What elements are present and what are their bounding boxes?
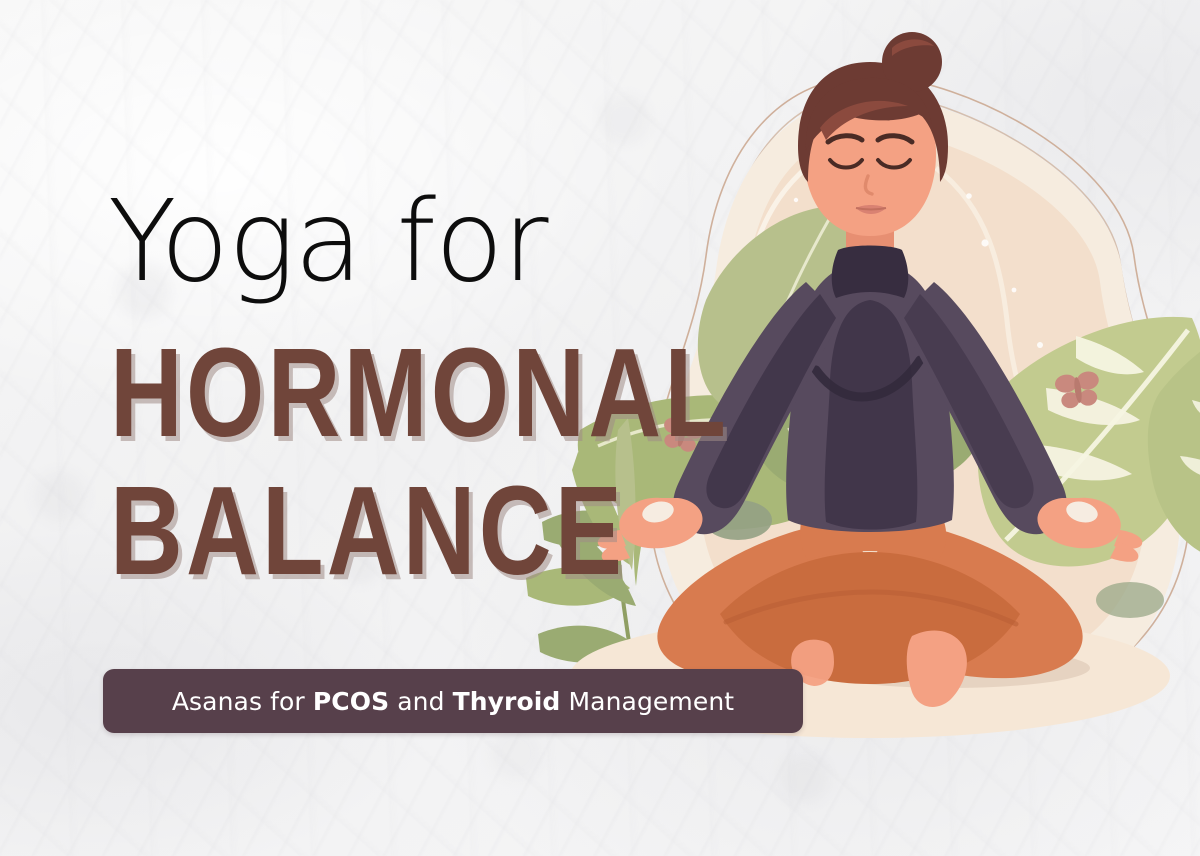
kicker-text: Yoga for [108,186,548,298]
rock-right [1096,582,1164,618]
subtitle-bold-pcos: PCOS [313,687,389,716]
torso-shade [825,300,918,530]
subtitle-prefix: Asanas for [172,687,313,716]
headline-line-2: BALANCE [110,477,625,585]
subtitle-middle: and [389,687,452,716]
subtitle-suffix: Management [560,687,734,716]
text-block: Yoga for HORMONAL BALANCE Asanas for PCO… [0,0,620,856]
poster-canvas: Yoga for HORMONAL BALANCE Asanas for PCO… [0,0,1200,856]
subtitle-banner: Asanas for PCOS and Thyroid Management [103,669,803,733]
turtleneck-collar [832,246,909,299]
subtitle-text: Asanas for PCOS and Thyroid Management [172,687,734,716]
subtitle-bold-thyroid: Thyroid [453,687,561,716]
headline-line-1: HORMONAL [110,339,729,447]
